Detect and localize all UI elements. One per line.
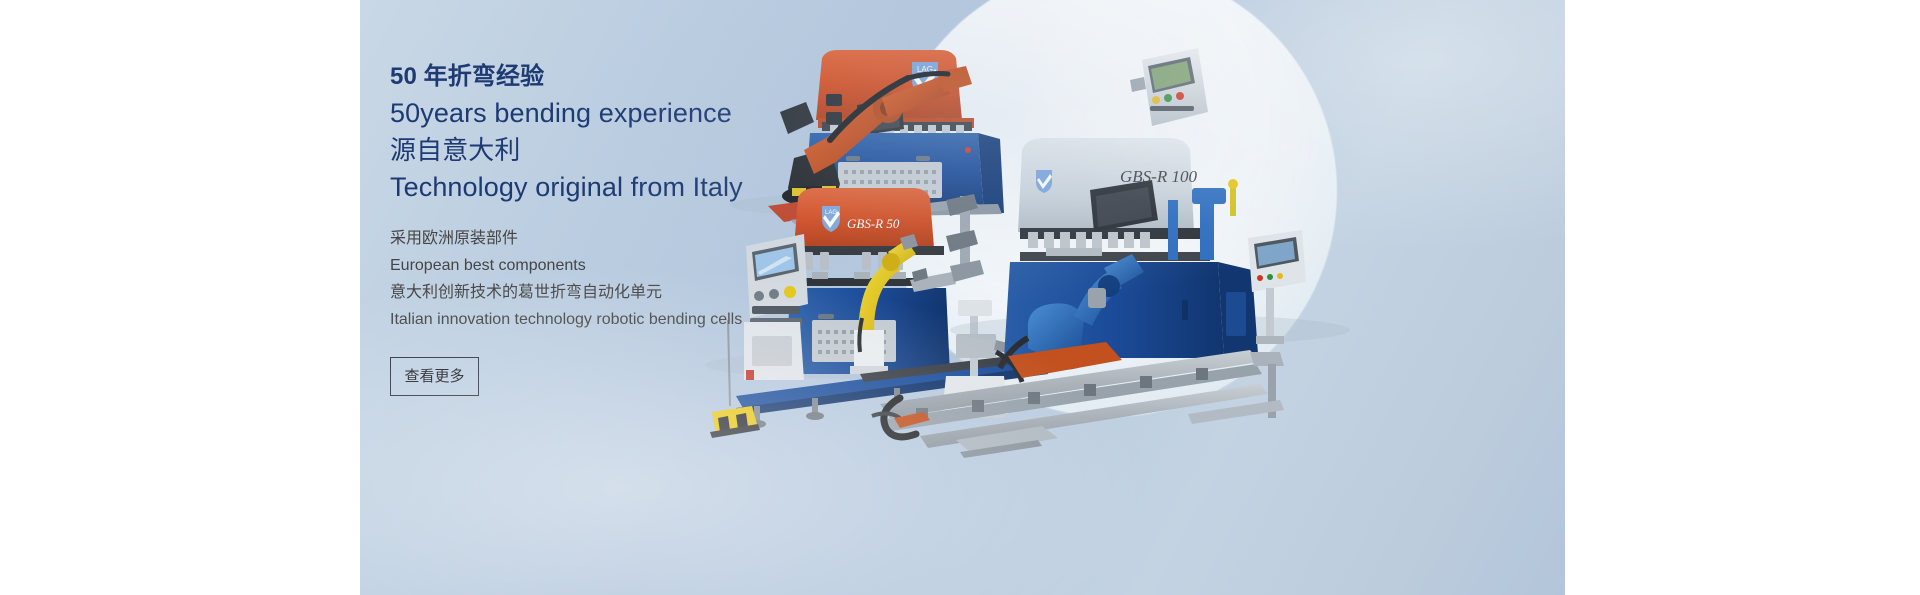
hero-banner: LAG: [360, 0, 1565, 595]
subcopy-block: 采用欧洲原装部件 European best components 意大利创新技…: [390, 225, 1010, 333]
view-more-button[interactable]: 查看更多: [390, 357, 479, 396]
headline-line-3: 源自意大利: [390, 132, 1010, 169]
headline-line-1: 50 年折弯经验: [390, 58, 1010, 95]
headline-line-4: Technology original from Italy: [390, 169, 1010, 206]
subcopy-line-1: 采用欧洲原装部件: [390, 225, 1010, 252]
banner-copy: 50 年折弯经验 50years bending experience 源自意大…: [390, 0, 1010, 595]
banner-page: LAG: [0, 0, 1920, 595]
subcopy-line-2: European best components: [390, 252, 1010, 279]
headline-line-2: 50years bending experience: [390, 95, 1010, 132]
subcopy-line-4: Italian innovation technology robotic be…: [390, 306, 1010, 333]
subcopy-line-3: 意大利创新技术的葛世折弯自动化单元: [390, 279, 1010, 306]
headline-block: 50 年折弯经验 50years bending experience 源自意大…: [390, 58, 1010, 206]
